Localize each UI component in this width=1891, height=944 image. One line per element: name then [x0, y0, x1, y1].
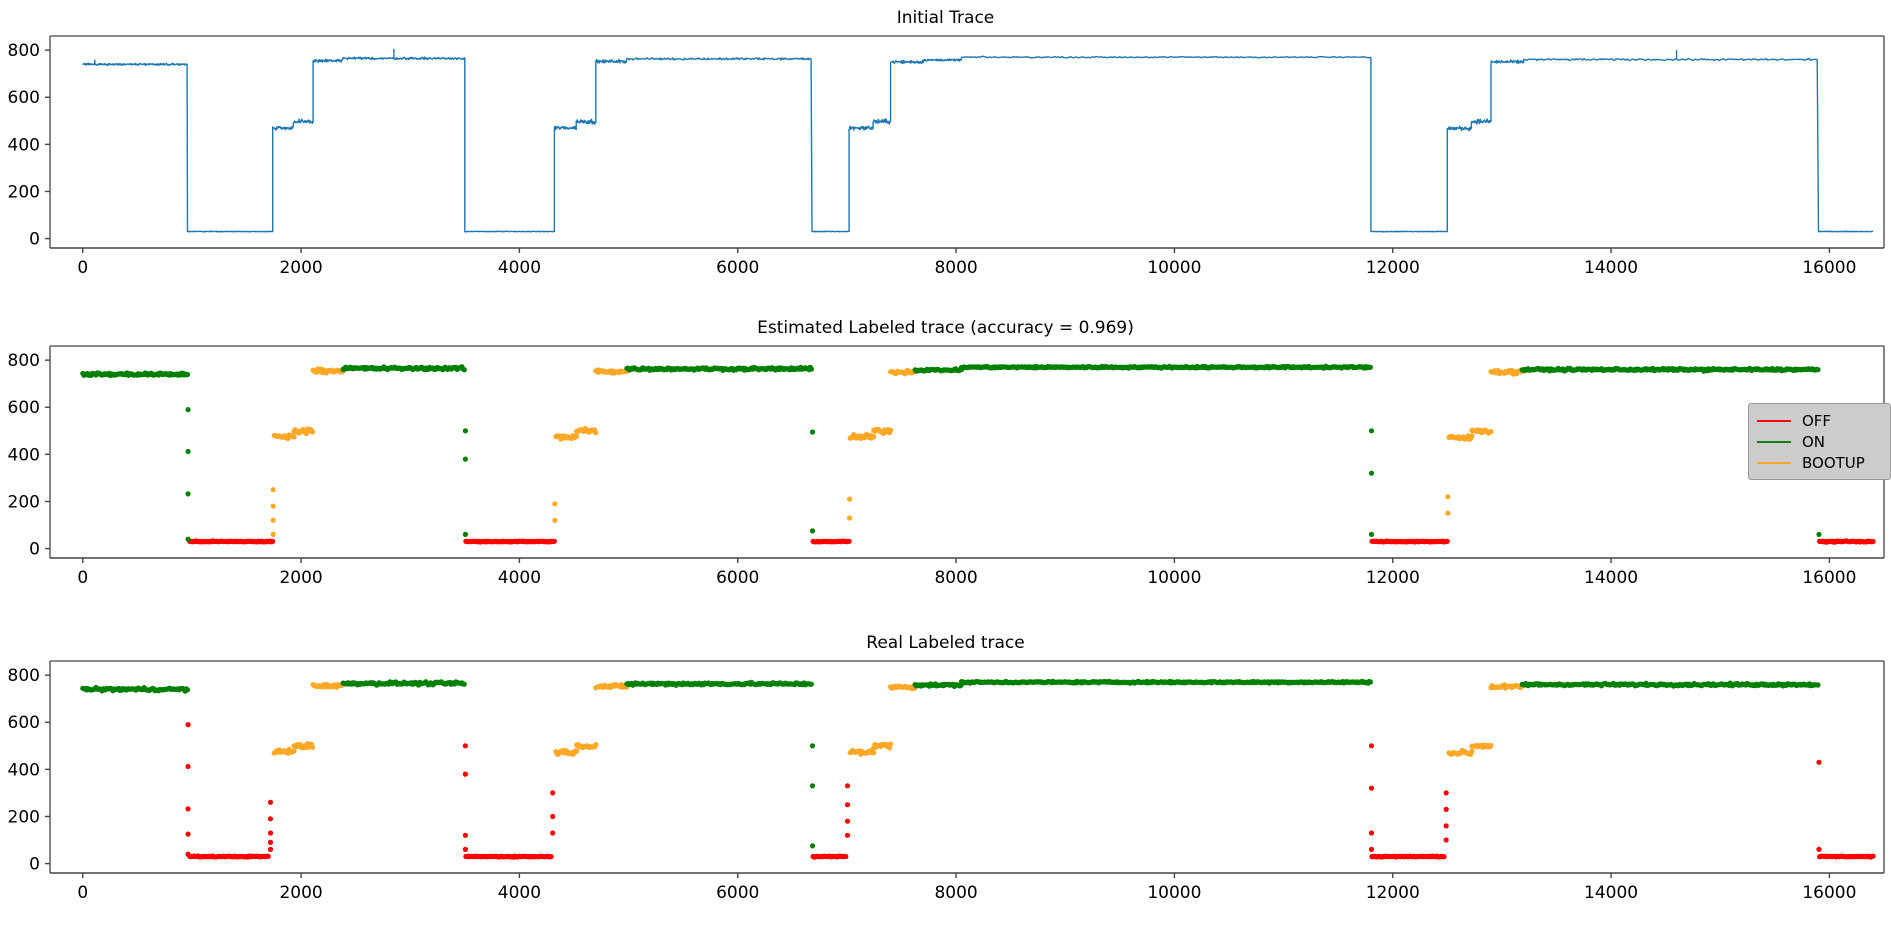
svg-text:16000: 16000 — [1802, 883, 1856, 903]
svg-text:0: 0 — [77, 258, 88, 278]
svg-text:8000: 8000 — [934, 883, 977, 903]
svg-text:14000: 14000 — [1584, 883, 1638, 903]
subplot-title-real-labeled-trace: Real Labeled trace — [0, 633, 1891, 653]
svg-text:4000: 4000 — [498, 258, 541, 278]
svg-text:16000: 16000 — [1802, 568, 1856, 588]
legend-item-bootup[interactable]: BOOTUP — [1757, 452, 1880, 473]
svg-text:800: 800 — [8, 351, 40, 371]
svg-text:14000: 14000 — [1584, 258, 1638, 278]
legend-swatch-off — [1757, 420, 1791, 422]
svg-text:16000: 16000 — [1802, 258, 1856, 278]
svg-text:4000: 4000 — [498, 568, 541, 588]
svg-text:0: 0 — [29, 540, 40, 560]
legend-swatch-on — [1757, 441, 1791, 443]
svg-text:0: 0 — [29, 855, 40, 875]
svg-text:200: 200 — [8, 807, 40, 827]
svg-text:600: 600 — [8, 88, 40, 108]
svg-text:2000: 2000 — [279, 258, 322, 278]
subplot-title-estimated-labeled-trace: Estimated Labeled trace (accuracy = 0.96… — [0, 318, 1891, 338]
svg-text:12000: 12000 — [1366, 258, 1420, 278]
svg-text:600: 600 — [8, 398, 40, 418]
legend-label-bootup: BOOTUP — [1802, 454, 1865, 472]
svg-text:10000: 10000 — [1147, 883, 1201, 903]
svg-text:600: 600 — [8, 713, 40, 733]
svg-text:200: 200 — [8, 492, 40, 512]
legend-item-off[interactable]: OFF — [1757, 410, 1880, 431]
svg-text:0: 0 — [77, 883, 88, 903]
svg-text:2000: 2000 — [279, 883, 322, 903]
svg-text:14000: 14000 — [1584, 568, 1638, 588]
svg-text:10000: 10000 — [1147, 568, 1201, 588]
legend-label-off: OFF — [1802, 412, 1831, 430]
svg-text:10000: 10000 — [1147, 258, 1201, 278]
svg-text:800: 800 — [8, 666, 40, 686]
legend-item-on[interactable]: ON — [1757, 431, 1880, 452]
svg-text:800: 800 — [8, 41, 40, 61]
svg-text:2000: 2000 — [279, 568, 322, 588]
svg-text:200: 200 — [8, 182, 40, 202]
svg-text:0: 0 — [77, 568, 88, 588]
legend-swatch-bootup — [1757, 462, 1791, 464]
svg-text:12000: 12000 — [1366, 883, 1420, 903]
svg-text:6000: 6000 — [716, 568, 759, 588]
svg-text:400: 400 — [8, 135, 40, 155]
svg-text:12000: 12000 — [1366, 568, 1420, 588]
subplot-title-initial-trace: Initial Trace — [0, 8, 1891, 28]
svg-text:400: 400 — [8, 760, 40, 780]
svg-text:400: 400 — [8, 445, 40, 465]
svg-text:8000: 8000 — [934, 258, 977, 278]
plot-area-estimated-labeled-trace[interactable]: 0200040006000800010000120001400016000020… — [0, 340, 1891, 610]
svg-text:4000: 4000 — [498, 883, 541, 903]
matplotlib-figure: Initial Trace 02000400060008000100001200… — [0, 0, 1891, 944]
svg-text:6000: 6000 — [716, 258, 759, 278]
legend-label-on: ON — [1802, 433, 1825, 451]
legend[interactable]: OFF ON BOOTUP — [1748, 403, 1891, 480]
plot-area-initial-trace[interactable]: 0200040006000800010000120001400016000020… — [0, 30, 1891, 300]
plot-area-real-labeled-trace[interactable]: 0200040006000800010000120001400016000020… — [0, 655, 1891, 935]
svg-text:0: 0 — [29, 230, 40, 250]
svg-text:8000: 8000 — [934, 568, 977, 588]
svg-text:6000: 6000 — [716, 883, 759, 903]
